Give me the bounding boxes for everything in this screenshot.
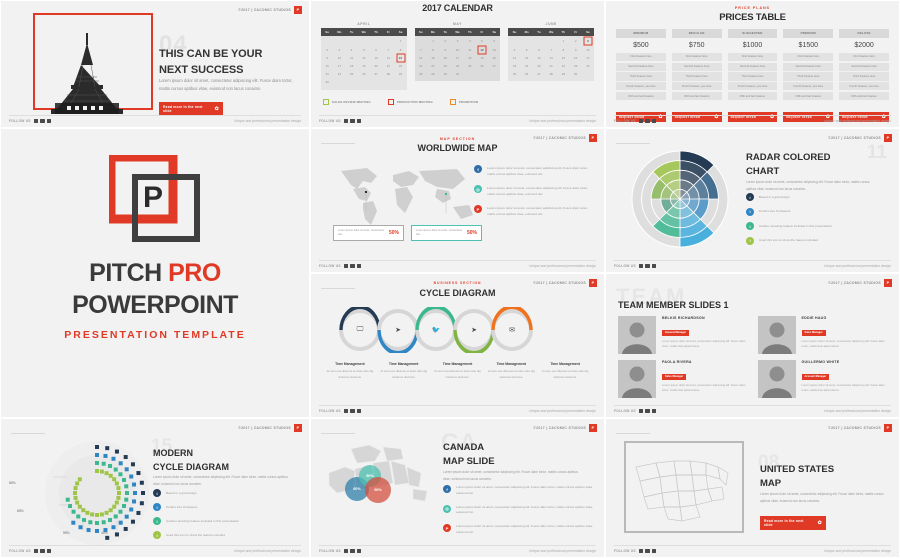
day-cell[interactable]: 17 <box>451 54 463 62</box>
cycle-captions: Time ManagementAt vero eos ditumus et iu… <box>323 362 592 380</box>
day-cell[interactable]: 14 <box>382 54 394 62</box>
day-cell[interactable]: 4 <box>345 46 357 54</box>
follow-us-label: FOLLOW US <box>319 409 341 413</box>
day-cell[interactable]: 24 <box>451 62 463 70</box>
slide-deck-preview: ©2017 | ZACOMIC STUDIOS P <box>0 0 900 558</box>
slide-footer: FOLLOW US Unique and professional presen… <box>614 405 891 414</box>
bullet-item: fLorem ipsum dolor sit amet, consectetur… <box>474 165 592 177</box>
day-cell[interactable]: 25 <box>464 62 476 70</box>
dow-cell: Th <box>464 28 476 36</box>
day-cell[interactable]: 18 <box>345 62 357 70</box>
brand-mark-icon: P <box>884 279 892 287</box>
social-icons[interactable] <box>639 409 657 414</box>
bullet-item: iBased in a grid design <box>153 489 298 497</box>
slide-footer: FOLLOW US Unique and professional presen… <box>9 115 301 124</box>
slide-header: ©2017 | ZACOMIC STUDIOS P <box>828 134 892 142</box>
day-cell[interactable] <box>358 37 370 45</box>
day-cell[interactable]: 13 <box>533 54 545 62</box>
send-icon: ➤ <box>395 326 401 334</box>
member-name: GUILLERMO WHITE <box>802 360 888 364</box>
day-cell[interactable]: 27 <box>488 62 500 70</box>
prices-title: PRICES TABLE <box>606 12 899 23</box>
bullet-text: Lorem ipsum dolor sit amet, consectetur … <box>456 485 593 497</box>
social-icons[interactable] <box>344 549 362 554</box>
calendar-month[interactable]: JUNESuMoTuWeThFrSa1234567891011121314151… <box>508 22 594 90</box>
legend-item: PROMOTION <box>450 99 478 105</box>
day-of-week-row: SuMoTuWeThFrSa <box>508 28 594 36</box>
price-amount: $500 <box>633 42 649 49</box>
gear-icon: ✿ <box>215 107 219 112</box>
pct-label-40: 40% <box>101 531 108 535</box>
price-feature: First Feature here <box>672 53 722 61</box>
social-icons[interactable] <box>639 119 657 124</box>
day-cell[interactable]: 2 <box>439 37 451 45</box>
day-cell[interactable]: 26 <box>521 70 533 78</box>
day-cell[interactable]: 2 <box>570 37 582 45</box>
day-of-week-row: SuMoTuWeThFrSa <box>415 28 501 36</box>
pct-label-55: 55% <box>63 531 70 535</box>
day-cell[interactable]: 5 <box>521 46 533 54</box>
day-cell[interactable]: 19 <box>521 62 533 70</box>
day-cell[interactable]: 12 <box>521 54 533 62</box>
social-icons[interactable] <box>344 264 362 269</box>
day-cell[interactable]: 22 <box>557 62 569 70</box>
price-feature: Third Feature here <box>839 72 889 80</box>
twitter-icon <box>34 119 39 124</box>
bullet-text: Used this icon to show the feature inclu… <box>759 237 818 245</box>
day-cell[interactable]: 27 <box>533 70 545 78</box>
day-cell[interactable]: 1 <box>427 37 439 45</box>
cycle-kicker: BUSINESS SECTION <box>311 281 604 285</box>
slide-header: ©2017 | ZACOMIC STUDIOS P <box>533 424 597 432</box>
member-name: EDDIE HAUG <box>802 316 888 320</box>
bullet-item: iAnother amazing feature included in thi… <box>153 517 298 525</box>
dow-cell: Mo <box>427 28 439 36</box>
brand-mark-icon: P <box>294 6 302 14</box>
modern-bullet-list: iBased in a grid designiPerfect size fit… <box>153 489 298 545</box>
day-cell[interactable] <box>333 37 345 45</box>
studio-credit: ©2017 | ZACOMIC STUDIOS <box>828 136 881 140</box>
day-cell[interactable]: 25 <box>345 70 357 78</box>
follow-us-label: FOLLOW US <box>9 119 31 123</box>
day-cell[interactable]: 18 <box>508 62 520 70</box>
day-cell[interactable]: 25 <box>508 70 520 78</box>
map-callout-2[interactable]: Lorem ipsum dolor sit amet, consectetur … <box>411 225 482 241</box>
day-cell[interactable] <box>345 37 357 45</box>
price-tier: PREMIUM <box>783 29 833 38</box>
team-member-card[interactable]: GUILLERMO WHITEAccount ManagerLorem ipsu… <box>758 360 888 398</box>
price-feature: Fourth Feature, yes here <box>783 82 833 90</box>
dribbble-icon <box>652 549 657 554</box>
bullet-text: Lorem ipsum dolor sit amet, consectetur … <box>487 165 592 177</box>
day-cell[interactable]: 29 <box>557 70 569 78</box>
day-cell[interactable]: 5 <box>358 46 370 54</box>
slide-worldwide-map[interactable]: ©2017 | ZACOMIC STUDIOS P MAP SECTION WO… <box>310 128 605 273</box>
twitter-icon: 🐦 <box>432 326 441 334</box>
day-cell[interactable]: 29 <box>427 70 439 78</box>
day-cell[interactable]: 1 <box>394 37 406 45</box>
globe-icon: ◎ <box>443 505 451 513</box>
slide-radar-chart[interactable]: ©2017 | ZACOMIC STUDIOS P 11 RADAR COLOR… <box>605 128 900 273</box>
cycle-caption: Time ManagementAt vero eos ditumus et iu… <box>377 362 431 380</box>
dow-cell: Tu <box>533 28 545 36</box>
footer-tagline: Unique and professional presentation des… <box>234 119 301 123</box>
day-cell[interactable] <box>382 37 394 45</box>
day-cell[interactable]: 22 <box>394 62 406 70</box>
cycle-text: At vero eos ditumus et iusto odio dig ni… <box>487 369 535 380</box>
monitor-icon: 🖵 <box>357 326 364 334</box>
slide-canada-map[interactable]: ©2017 | ZACOMIC STUDIOS P CA CANADA MAP … <box>310 418 605 558</box>
twitter-icon <box>639 119 644 124</box>
day-cell[interactable]: 9 <box>321 54 333 62</box>
day-cell[interactable]: 28 <box>382 70 394 78</box>
dow-cell: Mo <box>333 28 345 36</box>
team-member-card[interactable]: EDDIE HAUGSales ManagerLorem ipsum dolor… <box>758 316 888 354</box>
price-column[interactable]: MINIMUM$500First Feature hereSecond Feat… <box>616 29 666 123</box>
footer-tagline: Unique and professional presentation des… <box>824 264 891 268</box>
day-cell[interactable]: 8 <box>427 46 439 54</box>
dow-cell: Su <box>508 28 520 36</box>
facebook-icon: f <box>474 165 482 173</box>
day-cell[interactable]: 18 <box>464 54 476 62</box>
bullet-item: PLorem ipsum dolor sit amet, consectetur… <box>443 524 593 536</box>
bullet-text: Used this icon to show the feature inclu… <box>166 531 225 539</box>
bullet-item: iBased in a grid design <box>746 193 876 201</box>
day-cell[interactable]: 3 <box>333 46 345 54</box>
day-cell[interactable]: 17 <box>582 54 594 62</box>
follow-us-label: FOLLOW US <box>614 119 636 123</box>
twitter-icon <box>639 264 644 269</box>
dow-cell: Tu <box>439 28 451 36</box>
price-feature: Third Feature here <box>728 72 778 80</box>
day-cell[interactable]: 6 <box>370 46 382 54</box>
price-feature: Second Feature here <box>783 63 833 71</box>
avatar <box>758 316 796 354</box>
day-cell[interactable]: 15 <box>394 54 406 62</box>
price-feature: Second Feature here <box>728 63 778 71</box>
day-cell[interactable] <box>370 37 382 45</box>
price-amount: $2000 <box>854 42 873 49</box>
day-cell[interactable]: 13 <box>488 46 500 54</box>
social-icons[interactable] <box>34 119 52 124</box>
facebook-icon <box>645 119 650 124</box>
day-of-week-row: SuMoTuWeThFrSa <box>321 28 407 36</box>
callout-text: Lorem ipsum dolor sit amet, consectetur … <box>338 229 386 237</box>
canada-title: CANADA MAP SLIDE <box>443 441 583 470</box>
facebook-icon <box>645 264 650 269</box>
slide-team-members[interactable]: ©2017 | ZACOMIC STUDIOS P TEAM TEAM MEMB… <box>605 273 900 418</box>
map-callout-1[interactable]: Lorem ipsum dolor sit amet, consectetur … <box>333 225 404 241</box>
dow-cell: We <box>451 28 463 36</box>
day-cell[interactable]: 10 <box>451 46 463 54</box>
map-kicker: MAP SECTION <box>311 137 604 141</box>
logo-tagline: PRESENTATION TEMPLATE <box>1 329 309 341</box>
slide-header: ©2017 | ZACOMIC STUDIOS P <box>238 6 302 14</box>
bullet-text: Based in a grid design <box>759 193 790 201</box>
day-cell[interactable]: 11 <box>345 54 357 62</box>
dribbble-icon <box>47 549 52 554</box>
brand-mark-icon: P <box>884 424 892 432</box>
logo-wordmark-line1: PITCH PRO <box>1 259 309 288</box>
team-member-grid: BELKIS RICHARDSONGeneral ManagerLorem ip… <box>618 316 887 398</box>
day-cell[interactable] <box>508 37 520 45</box>
bullet-item: iPerfect size fit drawers <box>746 208 876 216</box>
dribbble-icon <box>652 409 657 414</box>
member-name: PAOLA RIVERA <box>662 360 748 364</box>
day-cell[interactable]: 24 <box>333 70 345 78</box>
map-bullet-list: fLorem ipsum dolor sit amet, consectetur… <box>474 165 592 225</box>
price-column[interactable]: DELUXE$2000First Feature hereSecond Feat… <box>839 29 889 123</box>
social-icons[interactable] <box>639 549 657 554</box>
bullet-item: iAnother amazing feature included in thi… <box>746 222 876 230</box>
pinterest-icon: P <box>443 524 451 532</box>
price-tier: MINIMUM <box>616 29 666 38</box>
day-cell[interactable]: 29 <box>394 70 406 78</box>
day-cell[interactable]: 14 <box>545 54 557 62</box>
footer-tagline: Unique and professional presentation des… <box>824 409 891 413</box>
gear-icon: ✿ <box>818 521 822 526</box>
day-cell[interactable]: 6 <box>488 37 500 45</box>
day-cell[interactable]: 31 <box>451 70 463 78</box>
price-feature: Third Feature here <box>783 72 833 80</box>
follow-us-label: FOLLOW US <box>319 264 341 268</box>
venn-circle-90: 90% <box>365 477 391 503</box>
decor-line <box>616 433 650 434</box>
day-cell[interactable]: 6 <box>533 46 545 54</box>
slide-calendar[interactable]: 2017 CALENDAR APRILSuMoTuWeThFrSa1234567… <box>310 0 605 128</box>
dow-cell: Su <box>415 28 427 36</box>
day-cell[interactable]: 7 <box>382 46 394 54</box>
day-cell[interactable]: 21 <box>415 62 427 70</box>
canada-body-text: Lorem ipsum dolor sit amet, consectetur … <box>443 469 583 482</box>
day-cell[interactable]: 23 <box>570 62 582 70</box>
slide-next-success[interactable]: ©2017 | ZACOMIC STUDIOS P <box>0 0 310 128</box>
slide-title-logo[interactable]: P PITCH PRO POWERPOINT PRESENTATION TEMP… <box>0 128 310 418</box>
day-cell[interactable] <box>533 37 545 45</box>
day-cell[interactable]: 26 <box>358 70 370 78</box>
day-cell[interactable]: 21 <box>382 62 394 70</box>
day-cell[interactable]: 23 <box>439 62 451 70</box>
slide-body-text: Lorem ipsum dolor sit amet, consectetur … <box>159 77 294 94</box>
price-feature: Fifth and last Feature <box>616 92 666 100</box>
facebook-icon <box>350 549 355 554</box>
day-cell[interactable] <box>521 37 533 45</box>
usa-map-frame <box>624 441 744 533</box>
day-cell[interactable] <box>415 37 427 45</box>
day-cell[interactable]: 3 <box>582 37 594 45</box>
day-cell[interactable]: 16 <box>439 54 451 62</box>
follow-us-label: FOLLOW US <box>319 119 341 123</box>
calendar-month[interactable]: MAYSuMoTuWeThFrSa12345678910111213141516… <box>415 22 501 90</box>
day-cell[interactable]: 12 <box>476 46 488 54</box>
slide-modern-cycle[interactable]: ©2017 | ZACOMIC STUDIOS P 15 MODERN CYCL… <box>0 418 310 558</box>
price-feature: First Feature here <box>728 53 778 61</box>
member-description: Lorem ipsum dolor sit amet, consectetur … <box>662 339 748 350</box>
dow-cell: Fr <box>476 28 488 36</box>
day-grid: 1234567891011121314151617181920212223242… <box>321 36 407 89</box>
member-role-badge: General Manager <box>662 330 689 336</box>
day-cell[interactable]: 9 <box>570 46 582 54</box>
cycle-label: Time Management <box>380 362 428 366</box>
avatar <box>758 360 796 398</box>
day-cell[interactable]: 26 <box>476 62 488 70</box>
bullet-text: Lorem ipsum dolor sit amet, consectetur … <box>456 524 593 536</box>
price-feature: First Feature here <box>783 53 833 61</box>
svg-text:P: P <box>143 181 163 214</box>
slide-cycle-diagram[interactable]: ©2017 | ZACOMIC STUDIOS P BUSINESS SECTI… <box>310 273 605 418</box>
legend-swatch <box>323 99 329 105</box>
day-cell[interactable]: 7 <box>415 46 427 54</box>
cycle-caption: Time ManagementAt vero eos ditumus et iu… <box>323 362 377 380</box>
social-icons[interactable] <box>34 549 52 554</box>
day-cell[interactable]: 10 <box>582 46 594 54</box>
facebook-icon <box>40 549 45 554</box>
footer-tagline: Unique and professional presentation des… <box>529 264 596 268</box>
day-cell[interactable]: 23 <box>321 70 333 78</box>
world-map-graphic <box>333 163 483 228</box>
day-cell[interactable]: 2 <box>321 46 333 54</box>
slide-title: THIS CAN BE YOUR NEXT SUCCESS <box>159 47 299 79</box>
slide-usa-map[interactable]: ©2017 | ZACOMIC STUDIOS P <box>605 418 900 558</box>
day-cell[interactable]: 30 <box>570 70 582 78</box>
cycle-title: CYCLE DIAGRAM <box>311 288 604 298</box>
read-more-button[interactable]: Read more in the next slide ✿ <box>159 95 223 116</box>
footer-tagline: Unique and professional presentation des… <box>824 119 891 123</box>
legend-swatch <box>388 99 394 105</box>
bullet-item: ◎Lorem ipsum dolor sit amet, consectetur… <box>474 185 592 197</box>
bullet-text: Lorem ipsum dolor sit amet, consectetur … <box>487 205 592 217</box>
slide-prices-table[interactable]: PRICE PLANS PRICES TABLE MINIMUM$500Firs… <box>605 0 900 128</box>
read-more-button[interactable]: Read more in the next slide ✿ <box>760 509 826 530</box>
day-cell[interactable]: 11 <box>464 46 476 54</box>
slide-footer: FOLLOW US Unique and professional presen… <box>319 545 596 554</box>
price-feature: First Feature here <box>616 53 666 61</box>
day-cell[interactable]: 4 <box>508 46 520 54</box>
price-tier: REGULAR <box>672 29 722 38</box>
day-cell[interactable]: 8 <box>557 46 569 54</box>
day-cell[interactable]: 1 <box>557 37 569 45</box>
eiffel-tower-image <box>31 31 146 114</box>
footer-tagline: Unique and professional presentation des… <box>529 549 596 553</box>
day-cell[interactable]: 4 <box>464 37 476 45</box>
day-cell[interactable]: 24 <box>582 62 594 70</box>
follow-us-label: FOLLOW US <box>319 549 341 553</box>
day-cell[interactable]: 7 <box>545 46 557 54</box>
studio-credit: ©2017 | ZACOMIC STUDIOS <box>828 281 881 285</box>
social-icons[interactable] <box>344 409 362 414</box>
social-icons[interactable] <box>639 264 657 269</box>
canada-bullet-list: fLorem ipsum dolor sit amet, consectetur… <box>443 485 593 544</box>
social-icons[interactable] <box>344 119 362 124</box>
follow-us-label: FOLLOW US <box>9 549 31 553</box>
dribbble-icon <box>652 264 657 269</box>
bullet-item: iUsed this icon to show the feature incl… <box>746 237 876 245</box>
follow-us-label: FOLLOW US <box>614 264 636 268</box>
price-feature: Fourth Feature, yes here <box>728 82 778 90</box>
team-member-card[interactable]: PAOLA RIVERASales ManagerLorem ipsum dol… <box>618 360 748 398</box>
day-cell[interactable]: 28 <box>545 70 557 78</box>
cycle-label: Time Management <box>434 362 482 366</box>
day-cell[interactable]: 20 <box>370 62 382 70</box>
team-title: TEAM MEMBER SLIDES 1 <box>618 300 729 310</box>
twitter-icon <box>344 264 349 269</box>
usa-title: UNITED STATES MAP <box>760 463 890 492</box>
slide-footer: FOLLOW US Unique and professional presen… <box>614 115 891 124</box>
price-column[interactable]: PREMIUM$1500First Feature hereSecond Fea… <box>783 29 833 123</box>
dow-cell: Mo <box>521 28 533 36</box>
slide-header: ©2017 | ZACOMIC STUDIOS P <box>828 279 892 287</box>
twitter-icon <box>344 409 349 414</box>
follow-us-label: FOLLOW US <box>614 409 636 413</box>
day-cell[interactable]: 30 <box>439 70 451 78</box>
dow-cell: We <box>358 28 370 36</box>
day-cell[interactable]: 19 <box>358 62 370 70</box>
day-cell[interactable]: 21 <box>545 62 557 70</box>
day-cell[interactable]: 30 <box>321 78 333 86</box>
team-member-card[interactable]: BELKIS RICHARDSONGeneral ManagerLorem ip… <box>618 316 748 354</box>
bullet-text: Another amazing feature included in this… <box>759 222 832 230</box>
day-cell[interactable]: 28 <box>415 70 427 78</box>
radar-chart-graphic <box>628 147 732 256</box>
day-cell[interactable]: 15 <box>557 54 569 62</box>
day-cell[interactable]: 20 <box>533 62 545 70</box>
pct-label-80: 80% <box>9 481 16 485</box>
day-cell[interactable]: 12 <box>358 54 370 62</box>
bullet-item: ◎Lorem ipsum dolor sit amet, consectetur… <box>443 505 593 517</box>
decor-line <box>616 143 650 144</box>
price-column[interactable]: REGULAR$750First Feature hereSecond Feat… <box>672 29 722 123</box>
price-columns: MINIMUM$500First Feature hereSecond Feat… <box>616 29 889 123</box>
day-cell[interactable] <box>545 37 557 45</box>
slide-header: ©2017 | ZACOMIC STUDIOS P <box>828 424 892 432</box>
radar-body-text: Lorem ipsum dolor sit amet, consectetur … <box>746 179 874 192</box>
calendar-month[interactable]: APRILSuMoTuWeThFrSa123456789101112131415… <box>321 22 407 90</box>
day-cell[interactable]: 13 <box>370 54 382 62</box>
day-cell[interactable]: 3 <box>451 37 463 45</box>
day-cell[interactable]: 9 <box>439 46 451 54</box>
day-cell[interactable]: 10 <box>333 54 345 62</box>
price-feature: Third Feature here <box>672 72 722 80</box>
dow-cell: Tu <box>345 28 357 36</box>
day-cell[interactable]: 16 <box>321 62 333 70</box>
day-cell[interactable]: 27 <box>370 70 382 78</box>
dribbble-icon <box>47 119 52 124</box>
facebook-icon <box>645 549 650 554</box>
month-label: JUNE <box>508 22 594 26</box>
day-cell[interactable] <box>321 37 333 45</box>
cycle-step[interactable]: ✉ <box>489 307 535 353</box>
price-column[interactable]: SUGGESTED$1000First Feature hereSecond F… <box>728 29 778 123</box>
cycle-text: At vero eos ditumus et iusto odio dig ni… <box>541 369 589 380</box>
day-cell[interactable]: 20 <box>488 54 500 62</box>
day-cell[interactable]: 19 <box>476 54 488 62</box>
usa-body-text: Lorem ipsum dolor sit amet, consectetur … <box>760 491 892 504</box>
facebook-icon <box>645 409 650 414</box>
dot-ring-chart <box>39 435 155 556</box>
brand-mark-icon: P <box>294 424 302 432</box>
member-role-badge: Account Manager <box>802 374 830 380</box>
dribbble-icon <box>357 409 362 414</box>
day-cell[interactable]: 17 <box>333 62 345 70</box>
day-cell[interactable]: 15 <box>427 54 439 62</box>
day-cell[interactable]: 14 <box>415 54 427 62</box>
day-cell[interactable]: 16 <box>570 54 582 62</box>
day-cell[interactable]: 11 <box>508 54 520 62</box>
price-amount: $1000 <box>743 42 762 49</box>
day-cell[interactable]: 22 <box>427 62 439 70</box>
legend-item: SALES REVIEW MEETING <box>323 99 371 105</box>
info-icon: i <box>746 193 754 201</box>
